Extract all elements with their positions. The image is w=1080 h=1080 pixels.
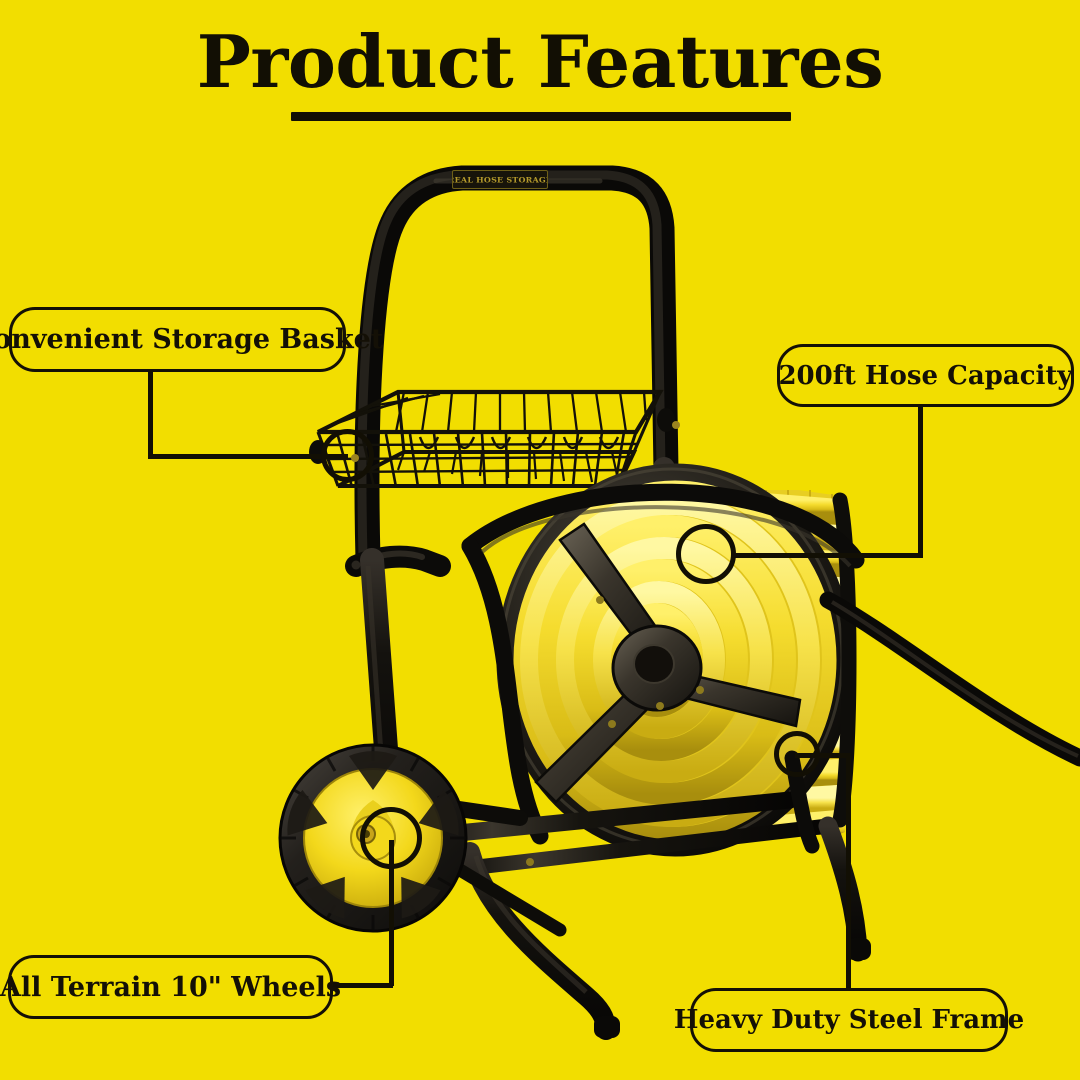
leader-line-capacity-horizontal: [733, 553, 923, 558]
callout-marker-wheels: [360, 807, 422, 869]
hose-outlet-part: [828, 600, 1080, 758]
callout-marker-basket: [321, 429, 374, 482]
callout-box-steel-frame: Heavy Duty Steel Frame: [690, 988, 1008, 1052]
callout-label-storage-basket: Convenient Storage Basket: [0, 326, 383, 353]
brand-decal: REAL HOSE STORAGE: [452, 170, 548, 189]
callout-marker-capacity: [676, 524, 736, 584]
brand-decal-text: REAL HOSE STORAGE: [452, 176, 548, 183]
callout-label-steel-frame: Heavy Duty Steel Frame: [674, 1007, 1024, 1033]
callout-box-hose-capacity: 200ft Hose Capacity: [777, 344, 1074, 407]
callout-box-wheels: All Terrain 10" Wheels: [8, 955, 333, 1019]
callout-label-wheels: All Terrain 10" Wheels: [0, 974, 341, 1001]
callout-marker-frame: [774, 731, 820, 777]
leader-line-frame-vertical: [846, 753, 851, 990]
leader-line-capacity-vertical: [918, 405, 923, 557]
infographic-canvas: REAL HOSE STORAGE Product Features Conve…: [0, 0, 1080, 1080]
leader-line-basket-horizontal: [148, 454, 348, 459]
callout-label-hose-capacity: 200ft Hose Capacity: [778, 363, 1072, 389]
leader-line-basket-vertical: [148, 370, 153, 459]
callout-box-storage-basket: Convenient Storage Basket: [9, 307, 346, 372]
